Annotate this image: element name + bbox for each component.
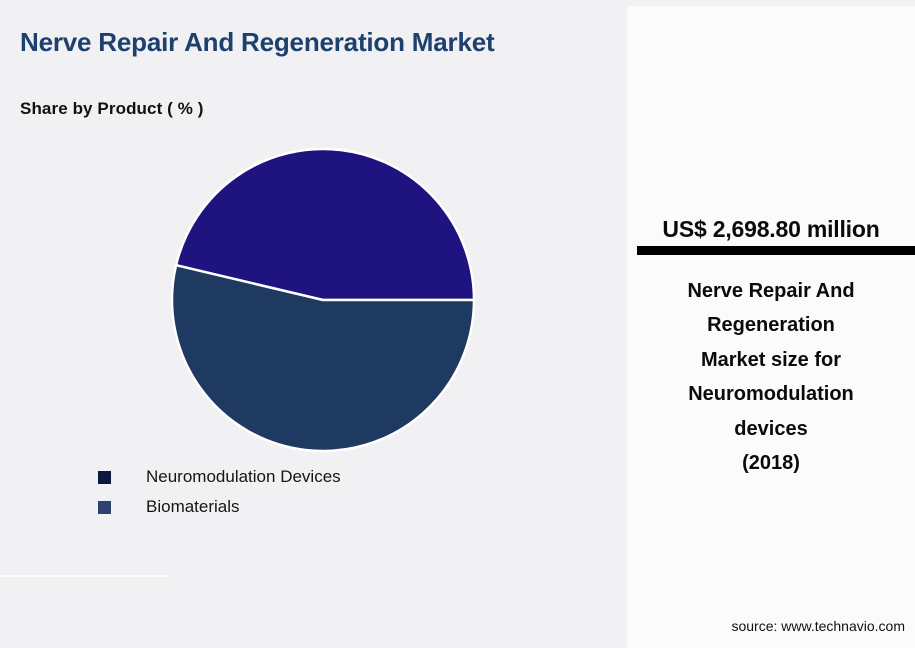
pie-chart-svg (170, 147, 476, 453)
kpi-caption: Nerve Repair And Regeneration Market siz… (641, 274, 901, 480)
pie-chart (170, 147, 476, 453)
kpi-caption-line: (2018) (641, 446, 901, 480)
kpi-value: US$ 2,698.80 million (627, 216, 915, 243)
chart-panel: Nerve Repair And Regeneration Market Sha… (0, 0, 627, 648)
chart-legend: Neuromodulation Devices Biomaterials (98, 462, 341, 522)
kpi-panel: US$ 2,698.80 million Nerve Repair And Re… (627, 6, 915, 648)
kpi-caption-line: Regeneration (641, 308, 901, 342)
infographic-root: Nerve Repair And Regeneration Market Sha… (0, 0, 915, 648)
legend-swatch-icon (98, 501, 111, 514)
source-note: source: www.technavio.com (627, 618, 905, 634)
legend-item-biomaterials[interactable]: Biomaterials (98, 492, 341, 522)
chart-subtitle: Share by Product ( % ) (20, 99, 204, 119)
kpi-caption-line: Market size for (641, 343, 901, 377)
kpi-underline-bar (637, 246, 915, 255)
page-title: Nerve Repair And Regeneration Market (20, 26, 580, 59)
legend-item-neuromodulation-devices[interactable]: Neuromodulation Devices (98, 462, 341, 492)
legend-swatch-icon (98, 471, 111, 484)
legend-label: Neuromodulation Devices (146, 467, 341, 487)
kpi-caption-line: Neuromodulation (641, 377, 901, 411)
kpi-caption-line: Nerve Repair And (641, 274, 901, 308)
divider-rule (0, 575, 166, 577)
legend-label: Biomaterials (146, 497, 240, 517)
kpi-caption-line: devices (641, 412, 901, 446)
